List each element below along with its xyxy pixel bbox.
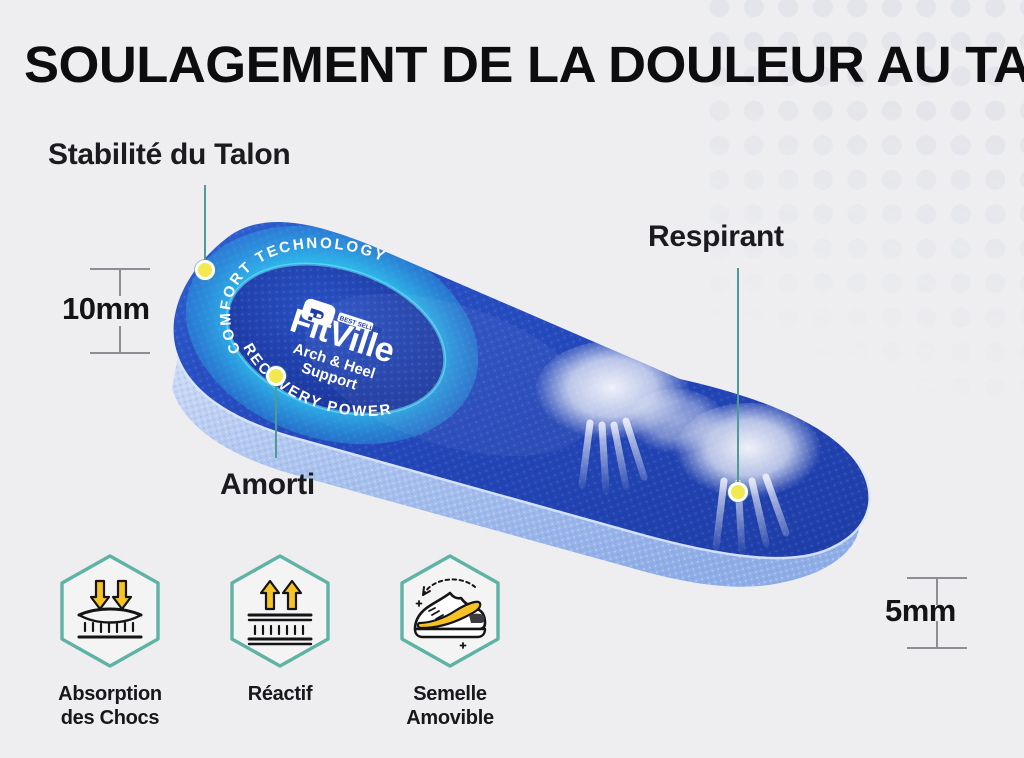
dimension-value-toe: 5mm: [885, 593, 956, 629]
feature-removable-insole[interactable]: Semelle Amovible: [376, 553, 524, 730]
leader-line-heel-stability: [204, 185, 206, 268]
feature-responsive[interactable]: Réactif: [206, 553, 354, 730]
cushion-down-arrows-icon: [55, 553, 165, 669]
shoe-insole-removal-icon: [395, 553, 505, 669]
cushion-up-arrows-icon: [225, 553, 335, 669]
page-title: SOULAGEMENT DE LA DOULEUR AU TALON: [24, 38, 1024, 91]
feature-label-responsive: Réactif: [248, 683, 313, 707]
hotspot-dot-cushioning[interactable]: [266, 366, 286, 386]
dimension-heel-thickness: 10mm: [90, 268, 150, 354]
dimension-toe-thickness: 5mm: [907, 577, 967, 649]
dimension-value-heel: 10mm: [62, 291, 150, 327]
hotspot-dot-breathable[interactable]: [728, 482, 748, 502]
feature-list: Absorption des Chocs: [36, 553, 524, 730]
feature-label-shock-absorption: Absorption des Chocs: [58, 683, 162, 730]
hotspot-dot-heel-stability[interactable]: [195, 260, 215, 280]
feature-label-removable-insole: Semelle Amovible: [406, 683, 494, 730]
leader-line-cushioning: [275, 378, 277, 458]
leader-line-breathable: [737, 268, 739, 490]
infographic-canvas: SOULAGEMENT DE LA DOULEUR AU TALON: [0, 0, 1024, 758]
callout-label-breathable: Respirant: [648, 220, 784, 254]
feature-shock-absorption[interactable]: Absorption des Chocs: [36, 553, 184, 730]
callout-label-cushioning: Amorti: [220, 468, 315, 502]
callout-label-heel-stability: Stabilité du Talon: [48, 138, 290, 172]
